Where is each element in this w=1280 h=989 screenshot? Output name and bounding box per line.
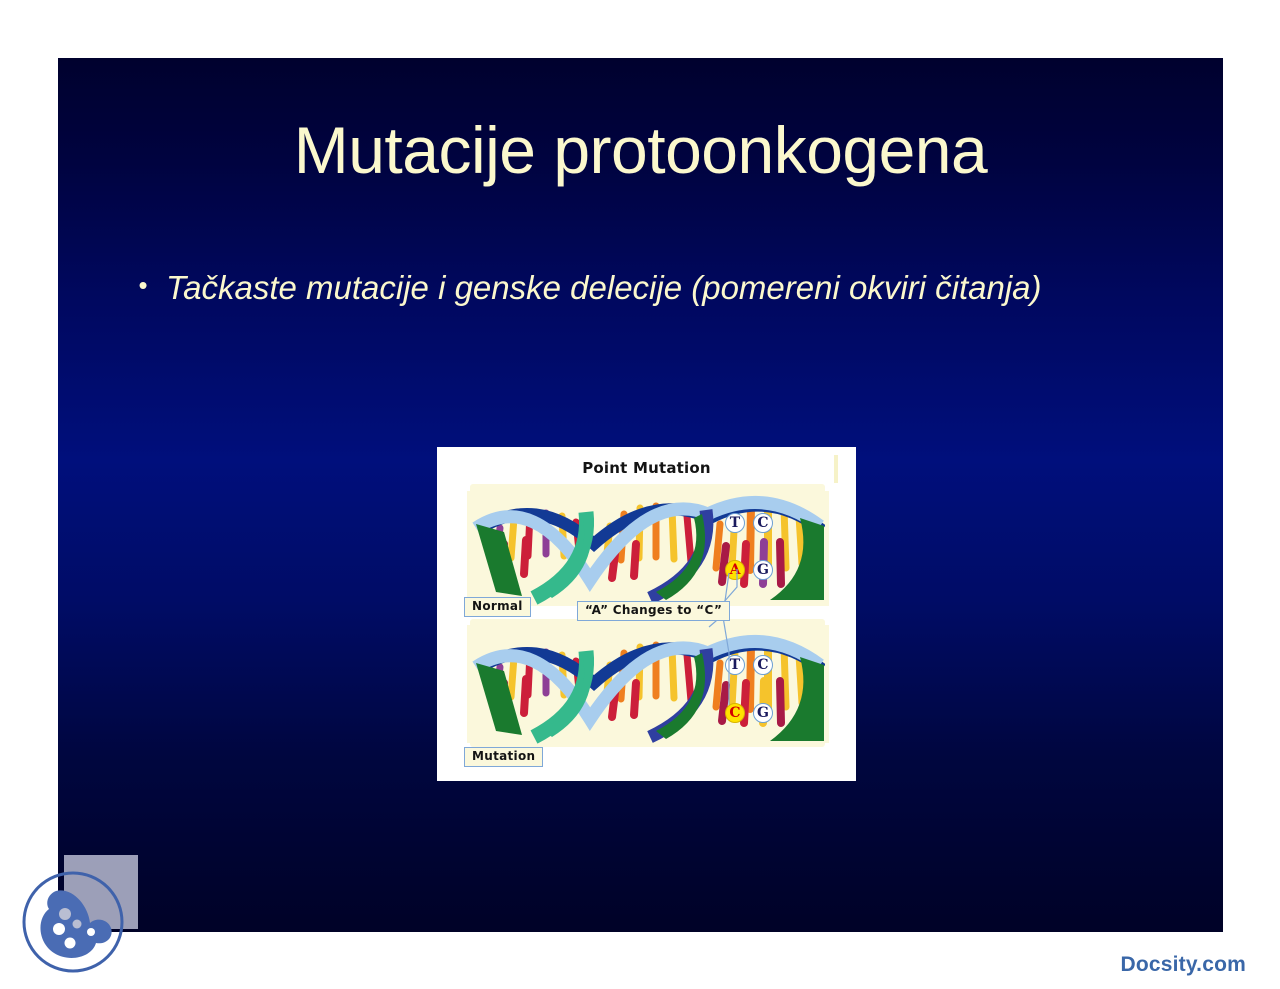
label-a-changes-to-c: “A” Changes to “C” — [577, 601, 730, 621]
label-normal: Normal — [464, 597, 531, 617]
bullet-list: • Tačkaste mutacije i genske delecije (p… — [120, 265, 1140, 311]
figure-canvas: Point Mutation — [437, 447, 856, 781]
page-title: Mutacije protoonkogena — [58, 116, 1223, 185]
base-badge-g-mutation: G — [753, 703, 773, 723]
base-badge-c-normal: C — [753, 513, 773, 533]
base-badge-g-normal: G — [753, 560, 773, 580]
docsity-wordmark: Docsity.com — [1120, 953, 1246, 977]
docsity-logo — [18, 855, 138, 975]
label-mutation: Mutation — [464, 747, 543, 767]
normal-dna-panel — [470, 484, 825, 606]
base-badge-c-mutation: C — [753, 655, 773, 675]
base-badge-c-mutated: C — [725, 703, 745, 723]
base-badge-t-mutation: T — [725, 655, 745, 675]
mutation-dna-panel — [470, 619, 825, 747]
dna-helix-mutation-icon — [470, 619, 825, 747]
dna-helix-normal-icon — [470, 484, 825, 606]
bullet-marker-icon: • — [120, 265, 166, 305]
bullet-text: Tačkaste mutacije i genske delecije (pom… — [166, 265, 1140, 311]
point-mutation-figure: Point Mutation — [437, 447, 856, 781]
presentation-slide: Mutacije protoonkogena • Tačkaste mutaci… — [58, 58, 1223, 932]
base-badge-a-normal: A — [725, 560, 745, 580]
base-badge-t-normal: T — [725, 513, 745, 533]
list-item: • Tačkaste mutacije i genske delecije (p… — [120, 265, 1140, 311]
figure-caption: Point Mutation — [437, 459, 856, 477]
docsity-cell-icon — [18, 867, 128, 977]
